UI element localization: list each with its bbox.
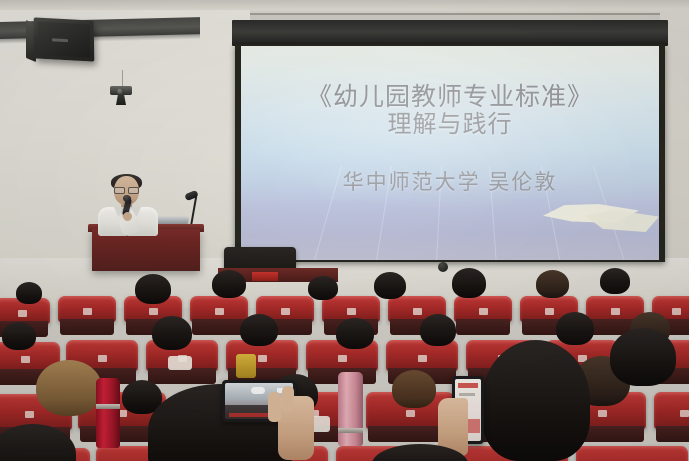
finger	[268, 392, 281, 422]
slide-text-block: 《幼儿园教师专业标准》 理解与践行 华中师范大学 吴伦敦	[241, 46, 659, 260]
screen-valance	[232, 20, 668, 46]
wall-camera-icon	[108, 86, 134, 100]
audience-head	[610, 328, 676, 386]
audience-head	[600, 268, 630, 294]
audience-area	[0, 268, 689, 461]
slide-surface: 《幼儿园教师专业标准》 理解与践行 华中师范大学 吴伦敦	[241, 46, 659, 260]
audience-head	[308, 276, 338, 300]
seat	[190, 296, 248, 322]
seat	[454, 296, 512, 322]
seat	[654, 392, 689, 429]
finger	[282, 386, 294, 412]
thermos-bottle-red	[96, 378, 120, 448]
seat	[576, 446, 688, 461]
thermos-band	[338, 428, 363, 433]
audience-head	[420, 314, 456, 346]
audience-head	[374, 272, 406, 299]
audience-head	[336, 318, 374, 349]
audience-head	[152, 316, 192, 350]
seat	[58, 296, 116, 322]
audience-yellow-bag	[236, 354, 256, 378]
audience-head	[212, 270, 246, 298]
audience-head	[556, 312, 594, 345]
audience-head	[2, 322, 36, 350]
slide-byline: 华中师范大学 吴伦敦	[241, 166, 659, 196]
wall-speaker-icon	[34, 17, 95, 61]
audience-head	[135, 274, 171, 304]
thermos-band	[96, 404, 120, 409]
eyeglasses-icon	[114, 187, 139, 192]
audience-head	[36, 360, 102, 416]
slide-title-line-2: 理解与践行	[241, 112, 659, 137]
audience-head	[392, 370, 436, 408]
slide-title-line-1: 《幼儿园教师专业标准》	[241, 84, 659, 111]
camera-lens-icon	[117, 88, 124, 95]
presenter	[96, 176, 168, 234]
audience-head	[16, 282, 42, 304]
audience-head	[536, 270, 569, 298]
audience-head-foreground-center-right	[482, 340, 590, 461]
camera-wall-mount	[116, 94, 126, 105]
audience-head	[452, 268, 486, 298]
gooseneck-stem	[190, 196, 197, 226]
thermos-bottle-pink	[338, 372, 363, 446]
audience-paper	[168, 356, 192, 370]
audience-head	[240, 314, 278, 346]
presenter-hand	[123, 212, 132, 221]
projection-screen: 《幼儿园教师专业标准》 理解与践行 华中师范大学 吴伦敦	[232, 20, 668, 264]
lecture-hall-photo: 《幼儿园教师专业标准》 理解与践行 华中师范大学 吴伦敦	[0, 0, 689, 461]
screen-frame: 《幼儿园教师专业标准》 理解与践行 华中师范大学 吴伦敦	[235, 44, 665, 262]
